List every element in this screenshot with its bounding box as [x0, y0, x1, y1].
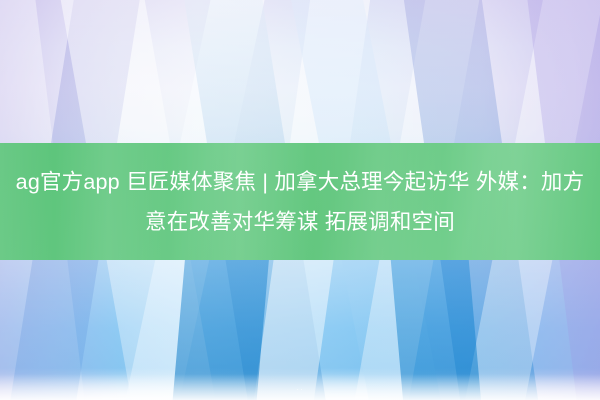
headline-title: ag官方app 巨匠媒体聚焦 | 加拿大总理今起访华 外媒：加方意在改善对华筹谋…	[6, 162, 594, 242]
headline-banner: ag官方app 巨匠媒体聚焦 | 加拿大总理今起访华 外媒：加方意在改善对华筹谋…	[0, 143, 600, 260]
article-banner-image: ·· ag官方app 巨匠媒体聚焦 | 加拿大总理今起访华 外媒：加方意在改善对…	[0, 0, 600, 400]
watermark-text: ··	[296, 385, 303, 394]
